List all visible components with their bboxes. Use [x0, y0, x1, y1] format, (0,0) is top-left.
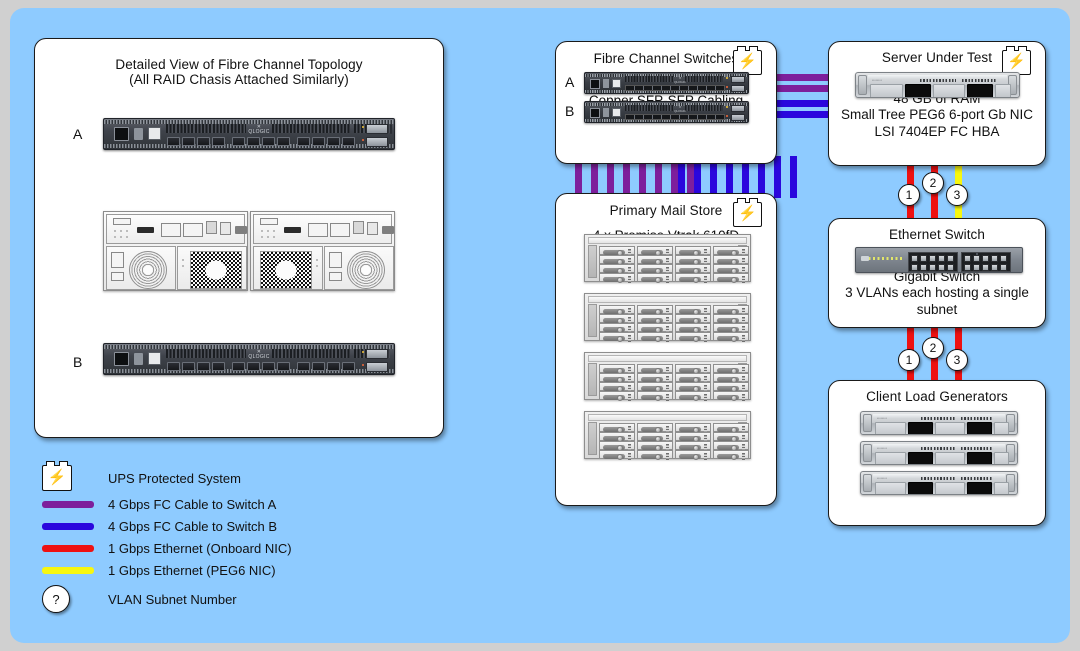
xserve-device: ••••••••: [860, 441, 1018, 465]
fc-switch-a-label: A: [565, 74, 574, 90]
legend-label: 1 Gbps Ethernet (PEG6 NIC): [108, 563, 276, 578]
server-under-test-panel: Server Under Test ⚡ •••••••• Nehalem 8-c…: [828, 41, 1046, 166]
ethernet-switch-device: [855, 247, 1023, 273]
raid-chassis-rear: [103, 211, 248, 291]
diagram-root: Detailed View of Fibre Channel Topology …: [0, 0, 1080, 651]
ups-bolt-glyph: ⚡: [734, 202, 761, 225]
legend-item-ethernet-onboard: 1 Gbps Ethernet (Onboard NIC): [38, 537, 292, 559]
vtrak-raid-unit: [584, 411, 751, 459]
client-load-generators-title: Client Load Generators: [829, 389, 1045, 404]
legend: ⚡ UPS Protected System 4 Gbps FC Cable t…: [38, 463, 292, 617]
ups-battery-icon: ⚡: [42, 465, 72, 491]
legend-label: VLAN Subnet Number: [108, 592, 237, 607]
fibre-channel-switches-panel: Fibre Channel Switches ⚡ A ✕QLOGIC: [555, 41, 777, 164]
vlan-subnet-marker: 2: [922, 172, 944, 194]
ups-battery-icon: ⚡: [733, 202, 762, 227]
legend-label: 4 Gbps FC Cable to Switch B: [108, 519, 277, 534]
fc-switch-a-device: ✕QLOGIC: [103, 118, 395, 150]
fc-cable-a: [770, 74, 832, 81]
fc-cable-b: [774, 156, 781, 198]
legend-item-ups: ⚡ UPS Protected System: [38, 463, 292, 493]
vlan-subnet-marker: 1: [898, 349, 920, 371]
legend-item-fc-b: 4 Gbps FC Cable to Switch B: [38, 515, 292, 537]
legend-item-fc-a: 4 Gbps FC Cable to Switch A: [38, 493, 292, 515]
vlan-subnet-marker-icon: ?: [42, 585, 70, 613]
primary-mail-store-panel: Primary Mail Store ⚡: [555, 193, 777, 506]
client-load-generators-panel: Client Load Generators •••••••• ••••••••: [828, 380, 1046, 526]
vlan-subnet-marker: 2: [922, 337, 944, 359]
vtrak-raid-unit: [584, 352, 751, 400]
ups-bolt-glyph: ⚡: [1003, 50, 1030, 73]
detail-title-line2: (All RAID Chasis Attached Similarly): [35, 72, 443, 87]
fc-cable-b: [770, 100, 832, 107]
fc-cable-a: [770, 85, 832, 92]
legend-swatch-ethernet-peg6: [42, 567, 94, 574]
fc-cable-b: [790, 156, 797, 198]
raid-chassis-rear: [250, 211, 395, 291]
legend-swatch-fc-a: [42, 501, 94, 508]
diagram-canvas: Detailed View of Fibre Channel Topology …: [10, 8, 1070, 643]
legend-label: 1 Gbps Ethernet (Onboard NIC): [108, 541, 292, 556]
legend-swatch-ethernet-onboard: [42, 545, 94, 552]
fc-cable-b: [770, 111, 832, 118]
fc-switch-b-label: B: [565, 103, 574, 119]
ups-bolt-glyph: ⚡: [734, 50, 761, 73]
xserve-device: ••••••••: [860, 411, 1018, 435]
legend-swatch-fc-b: [42, 523, 94, 530]
vtrak-raid-unit: [584, 293, 751, 341]
xserve-device: ••••••••: [860, 471, 1018, 495]
vlan-subnet-marker: 3: [946, 184, 968, 206]
vtrak-raid-unit: [584, 234, 751, 282]
ethernet-switch-title: Ethernet Switch: [829, 227, 1045, 242]
detail-title-line1: Detailed View of Fibre Channel Topology: [35, 57, 443, 72]
detail-switch-a-label: A: [73, 126, 82, 142]
fc-switch-b-device: ✕QLOGIC: [103, 343, 395, 375]
fc-switch-b-device-small: ✕QLOGIC: [584, 101, 749, 123]
ethernet-switch-panel: Ethernet Switch Linksys SRW2024 Gigabit …: [828, 218, 1046, 328]
legend-label: UPS Protected System: [108, 471, 241, 486]
detail-switch-b-label: B: [73, 354, 82, 370]
vlan-subnet-marker: 1: [898, 184, 920, 206]
fc-switch-a-device-small: ✕QLOGIC: [584, 72, 749, 94]
ups-bolt-glyph: ⚡: [43, 465, 71, 489]
vlan-subnet-marker: 3: [946, 349, 968, 371]
legend-item-ethernet-peg6: 1 Gbps Ethernet (PEG6 NIC): [38, 559, 292, 581]
legend-item-vlan: ? VLAN Subnet Number: [38, 581, 292, 617]
legend-label: 4 Gbps FC Cable to Switch A: [108, 497, 276, 512]
xserve-device: ••••••••: [855, 72, 1020, 98]
